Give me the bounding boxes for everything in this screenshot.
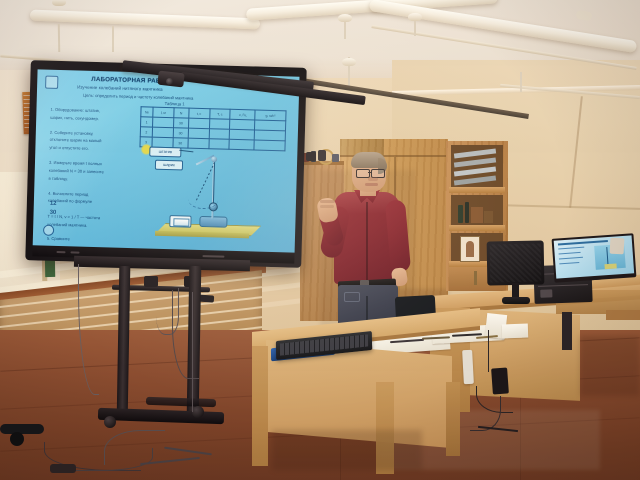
stopwatch — [169, 215, 191, 228]
slide-bullet: 4. Вычислите период — [48, 191, 138, 198]
classroom-photo: ЛАБОРАТОРНАЯ РАБОТА Изучение колебаний н… — [0, 0, 640, 480]
chair-base — [0, 424, 44, 450]
desk-leg-left — [252, 346, 268, 466]
wall-mounted-device — [306, 148, 332, 162]
table-header-cell: N — [174, 108, 189, 118]
stand-base-bar-rear — [146, 397, 216, 407]
pendulum-illustration: штатив шарик — [137, 138, 290, 252]
slide-bullet: T = t / N, ν = 1 / T — частота — [47, 215, 137, 222]
glasses-icon — [356, 169, 384, 176]
table-cell: 2 — [140, 127, 152, 137]
stand-crossbar — [74, 256, 250, 272]
slide-bullet: колебаний маятника. — [47, 223, 137, 230]
table-cell: 30 — [173, 118, 188, 128]
table-cell — [230, 129, 255, 140]
desk-leg-rear — [446, 382, 460, 456]
slide-bullet: 3. Измерьте время t полных — [49, 161, 139, 168]
slide-bullet: колебаний по формуле — [48, 199, 138, 206]
table-cell — [209, 119, 230, 130]
slide-table-caption: Таблица 1 — [165, 101, 185, 107]
table-header-cell: l, м — [153, 107, 174, 118]
slide-bullet: угол и отпустите его. — [49, 146, 139, 153]
callout-stand: штатив — [149, 147, 181, 158]
stand-cable — [78, 264, 99, 395]
table-cell: 30 — [173, 128, 188, 138]
table-cell — [152, 117, 173, 128]
slide-bullet: 5. Сравните — [47, 237, 137, 244]
table-header-cell: t, с — [188, 108, 209, 119]
slide-page-mark: 30 — [50, 210, 57, 216]
slide-bullet: шарик, нить, секундомер. — [50, 116, 140, 123]
shelf-papers — [454, 149, 498, 185]
display-screen[interactable]: ЛАБОРАТОРНАЯ РАБОТА Изучение колебаний н… — [33, 69, 300, 252]
table-cell — [188, 128, 209, 139]
table-cell: 1 — [141, 117, 153, 127]
camera-lens-icon — [166, 78, 173, 85]
ceiling-tube-light-1 — [30, 10, 260, 30]
slide-bullet: отклоните шарик на малый — [50, 138, 140, 145]
table-header-cell: T, с — [209, 109, 230, 120]
table-cell — [152, 127, 173, 138]
table-header-cell: № — [141, 107, 153, 117]
slide-logo-icon — [45, 76, 58, 89]
table-cell — [230, 119, 255, 130]
callout-ball: шарик — [155, 160, 183, 171]
framed-picture — [460, 236, 480, 262]
stand-accessory-device — [144, 276, 158, 287]
slide-bullet: 2. Соберите установку, — [50, 130, 140, 137]
wall-socket[interactable] — [610, 238, 625, 255]
stand-cable — [192, 292, 199, 412]
table-header-cell: ν, Гц — [230, 109, 255, 120]
table-cell — [188, 118, 209, 129]
slide-bullet: 1. Оборудование: штатив, — [50, 108, 140, 115]
slide-bullets: 1. Оборудование: штатив, шарик, нить, се… — [47, 108, 141, 247]
desktop-monitor-back — [487, 241, 545, 286]
slide-bullet: в таблицу. — [48, 176, 138, 183]
table-cell — [209, 129, 230, 140]
slide-number: 12 — [50, 201, 57, 207]
slide-bullet: колебаний N = 30 и занесите — [49, 169, 139, 176]
shelf-bottles — [456, 199, 496, 225]
stand-column-left — [117, 266, 131, 418]
floor-cables — [44, 420, 234, 478]
callout-leader-line — [179, 150, 193, 153]
monitor-stand-foot — [502, 297, 530, 304]
